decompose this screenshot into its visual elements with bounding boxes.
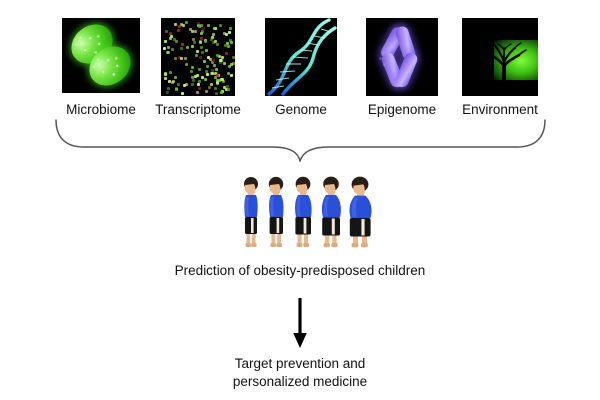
microarray-spot	[164, 40, 167, 43]
microarray-spot	[197, 83, 200, 86]
microarray-spot	[171, 81, 174, 84]
chromosome-icon	[366, 18, 438, 96]
microarray-spot	[201, 30, 204, 33]
panel-epigenome: Epigenome	[366, 18, 438, 96]
microarray-spot	[204, 78, 207, 81]
child-figure-3	[289, 176, 318, 248]
microarray-spot	[174, 23, 177, 26]
children-figure-row	[0, 170, 600, 248]
microarray-spot	[232, 62, 235, 65]
bacterium-icon	[62, 18, 140, 93]
microarray-spot	[228, 31, 231, 34]
microarray-spot	[223, 62, 226, 65]
converging-brace	[0, 116, 600, 168]
microarray-icon	[161, 18, 235, 96]
microarray-spot	[183, 84, 186, 87]
microarray-spot	[191, 30, 194, 33]
caption-outcome: Target prevention and personalized medic…	[0, 355, 600, 391]
microarray-spot	[184, 57, 187, 60]
microarray-spot	[206, 65, 209, 68]
microarray-spot	[163, 47, 166, 50]
microarray-spot	[194, 30, 197, 33]
child-figure-4	[316, 176, 347, 248]
microarray-spot	[212, 33, 215, 36]
microarray-spot	[180, 57, 183, 60]
flow-arrow-down	[286, 298, 314, 350]
microarray-spot	[174, 76, 177, 79]
microarray-spot	[215, 92, 218, 95]
microarray-spot	[200, 46, 203, 49]
microarray-spot	[206, 73, 209, 76]
microarray-spot	[216, 74, 219, 77]
microarray-spot	[230, 74, 233, 77]
microarray-spot	[203, 60, 206, 63]
microarray-spot	[219, 24, 222, 27]
tree-icon	[462, 18, 538, 96]
microarray-spot	[190, 70, 193, 73]
microarray-spot	[214, 40, 217, 43]
microarray-spot	[229, 27, 232, 30]
microarray-spot	[181, 43, 184, 46]
microarray-spot	[213, 27, 216, 30]
microarray-spot	[165, 30, 168, 33]
microarray-spot	[199, 40, 202, 43]
microarray-spot	[180, 47, 183, 50]
microarray-spot	[193, 41, 196, 44]
microarray-spot	[221, 56, 224, 59]
microarray-spot	[173, 38, 176, 41]
child-figure-1	[238, 176, 264, 248]
microarray-spot	[177, 83, 180, 86]
microarray-spot	[210, 83, 213, 86]
microarray-spot	[192, 79, 195, 82]
microarray-spot	[182, 24, 185, 27]
dna-helix-icon	[265, 18, 337, 96]
microarray-spot	[207, 24, 210, 27]
microarray-spot	[227, 72, 230, 75]
microarray-spot	[197, 22, 200, 25]
microarray-spot	[196, 50, 199, 53]
microarray-spot	[211, 69, 214, 72]
modality-panel-row: Microbiome Transcriptome	[0, 18, 600, 122]
microarray-spot	[232, 56, 235, 59]
microarray-spot	[185, 21, 188, 24]
microarray-spot	[222, 80, 225, 83]
microarray-spot	[170, 35, 173, 38]
microarray-spot	[199, 56, 202, 59]
microarray-spot	[196, 91, 199, 94]
microarray-spot	[214, 87, 217, 90]
microarray-spot	[205, 49, 208, 52]
microarray-spot	[186, 46, 189, 49]
microarray-spot	[227, 88, 230, 91]
microarray-spot	[215, 68, 218, 71]
microarray-spot	[219, 59, 222, 62]
microarray-spot	[167, 46, 170, 49]
caption-outcome-line-2: personalized medicine	[0, 373, 600, 391]
microarray-spot	[210, 38, 213, 41]
microarray-spot	[191, 83, 194, 86]
microarray-spot	[191, 66, 194, 69]
microarray-spot	[220, 91, 223, 94]
microarray-spot	[177, 29, 180, 32]
microarray-spot	[205, 90, 208, 93]
caption-prediction: Prediction of obesity-predisposed childr…	[0, 262, 600, 279]
microarray-spot	[216, 82, 219, 85]
panel-transcriptome: Transcriptome	[161, 18, 235, 96]
panel-genome: Genome	[265, 18, 337, 96]
caption-outcome-line-1: Target prevention and	[0, 355, 600, 373]
microarray-spot	[166, 91, 169, 94]
microarray-spot	[204, 40, 207, 43]
microarray-spot	[192, 38, 195, 41]
microarray-spot	[225, 52, 228, 55]
microarray-spot	[198, 68, 201, 71]
panel-microbiome: Microbiome	[62, 18, 140, 93]
microarray-spot	[164, 77, 167, 80]
microarray-spot	[214, 76, 217, 79]
microarray-spot	[208, 86, 211, 89]
child-figure-5	[344, 176, 378, 248]
microarray-spot	[212, 59, 215, 62]
microarray-spot	[201, 51, 204, 54]
microarray-spot	[196, 74, 199, 77]
microarray-spot	[228, 65, 231, 68]
figure-root: Microbiome Transcriptome	[0, 0, 600, 400]
microarray-spot	[175, 87, 178, 90]
microarray-spot	[213, 64, 216, 67]
microarray-spot	[167, 87, 170, 90]
microarray-spot	[169, 71, 172, 74]
microarray-spot	[202, 27, 205, 30]
microarray-spot	[178, 25, 181, 28]
microarray-spot	[230, 41, 233, 44]
microarray-spot	[181, 92, 184, 95]
panel-environment: Environment	[462, 18, 538, 96]
microarray-spot	[171, 48, 174, 51]
microarray-spot	[185, 63, 188, 66]
microarray-spot	[227, 45, 230, 48]
microarray-spot	[174, 57, 177, 60]
microarray-spot	[164, 72, 167, 75]
microarray-spot	[191, 45, 194, 48]
microarray-spot	[195, 54, 198, 57]
child-figure-2	[263, 176, 290, 248]
microarray-spot	[216, 43, 219, 46]
